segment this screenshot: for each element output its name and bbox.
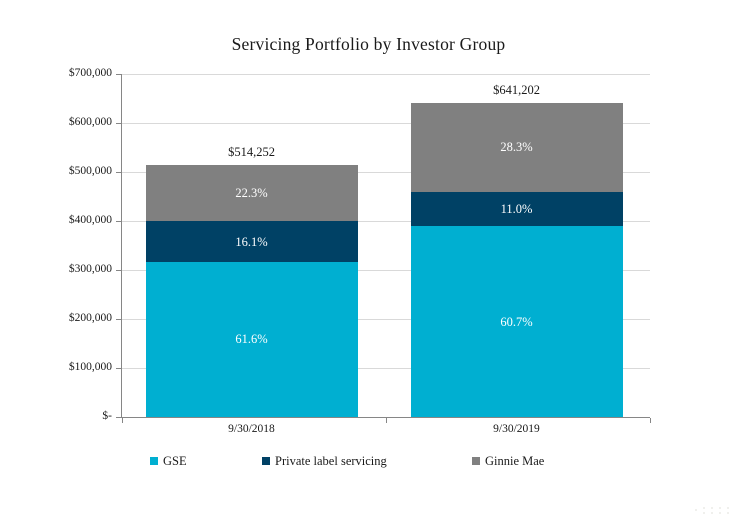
x-axis-category-label: 9/30/2018	[146, 424, 358, 436]
legend-swatch-icon	[262, 457, 270, 465]
plot-area: 61.6%16.1%22.3%$514,25260.7%11.0%28.3%$6…	[122, 74, 650, 417]
legend-label: GSE	[163, 455, 187, 468]
legend-item-gse[interactable]: GSE	[150, 452, 187, 470]
y-axis-tick-label: $300,000	[4, 264, 112, 276]
y-axis-tick	[116, 270, 121, 271]
legend-label: Private label servicing	[275, 455, 387, 468]
chart-legend: GSEPrivate label servicingGinnie Mae	[122, 452, 650, 470]
segment-percent-label: 60.7%	[411, 316, 623, 329]
bar-segment-gse[interactable]: 61.6%	[146, 262, 358, 417]
segment-percent-label: 22.3%	[146, 187, 358, 200]
stacked-bar[interactable]: 60.7%11.0%28.3%	[411, 103, 623, 417]
y-axis-tick	[116, 123, 121, 124]
y-axis-tick-label: $100,000	[4, 362, 112, 374]
x-axis-category-label: 9/30/2019	[411, 424, 623, 436]
segment-percent-label: 11.0%	[411, 203, 623, 216]
y-axis-tick	[116, 74, 121, 75]
bar-total-label: $514,252	[146, 146, 358, 159]
y-axis-tick-label: $700,000	[4, 68, 112, 80]
x-axis-tick	[386, 418, 387, 423]
legend-swatch-icon	[150, 457, 158, 465]
y-axis-tick-label: $500,000	[4, 166, 112, 178]
gridline	[122, 74, 650, 75]
stacked-bar[interactable]: 61.6%16.1%22.3%	[146, 165, 358, 417]
legend-item-private-label-servicing[interactable]: Private label servicing	[262, 452, 387, 470]
x-axis-tick	[122, 418, 123, 423]
legend-item-ginnie-mae[interactable]: Ginnie Mae	[472, 452, 544, 470]
y-axis-tick	[116, 172, 121, 173]
bar-segment-ginnie-mae[interactable]: 22.3%	[146, 165, 358, 221]
chart-container: Servicing Portfolio by Investor Group $-…	[0, 0, 737, 523]
segment-percent-label: 28.3%	[411, 141, 623, 154]
segment-percent-label: 61.6%	[146, 333, 358, 346]
y-axis-labels: $-$100,000$200,000$300,000$400,000$500,0…	[0, 0, 112, 523]
y-axis-tick	[116, 319, 121, 320]
y-axis-line	[121, 74, 122, 418]
bar-segment-ginnie-mae[interactable]: 28.3%	[411, 103, 623, 192]
corner-artifact-icon	[693, 503, 733, 517]
y-axis-tick	[116, 368, 121, 369]
y-axis-tick-label: $400,000	[4, 215, 112, 227]
y-axis-tick	[116, 417, 121, 418]
bar-total-label: $641,202	[411, 84, 623, 97]
y-axis-tick-label: $200,000	[4, 313, 112, 325]
y-axis-tick-label: $-	[4, 411, 112, 423]
bar-segment-private-label-servicing[interactable]: 11.0%	[411, 192, 623, 227]
segment-percent-label: 16.1%	[146, 236, 358, 249]
legend-swatch-icon	[472, 457, 480, 465]
y-axis-tick	[116, 221, 121, 222]
legend-label: Ginnie Mae	[485, 455, 544, 468]
bar-segment-gse[interactable]: 60.7%	[411, 226, 623, 417]
x-axis-tick	[650, 418, 651, 423]
y-axis-tick-label: $600,000	[4, 117, 112, 129]
bar-segment-private-label-servicing[interactable]: 16.1%	[146, 221, 358, 262]
